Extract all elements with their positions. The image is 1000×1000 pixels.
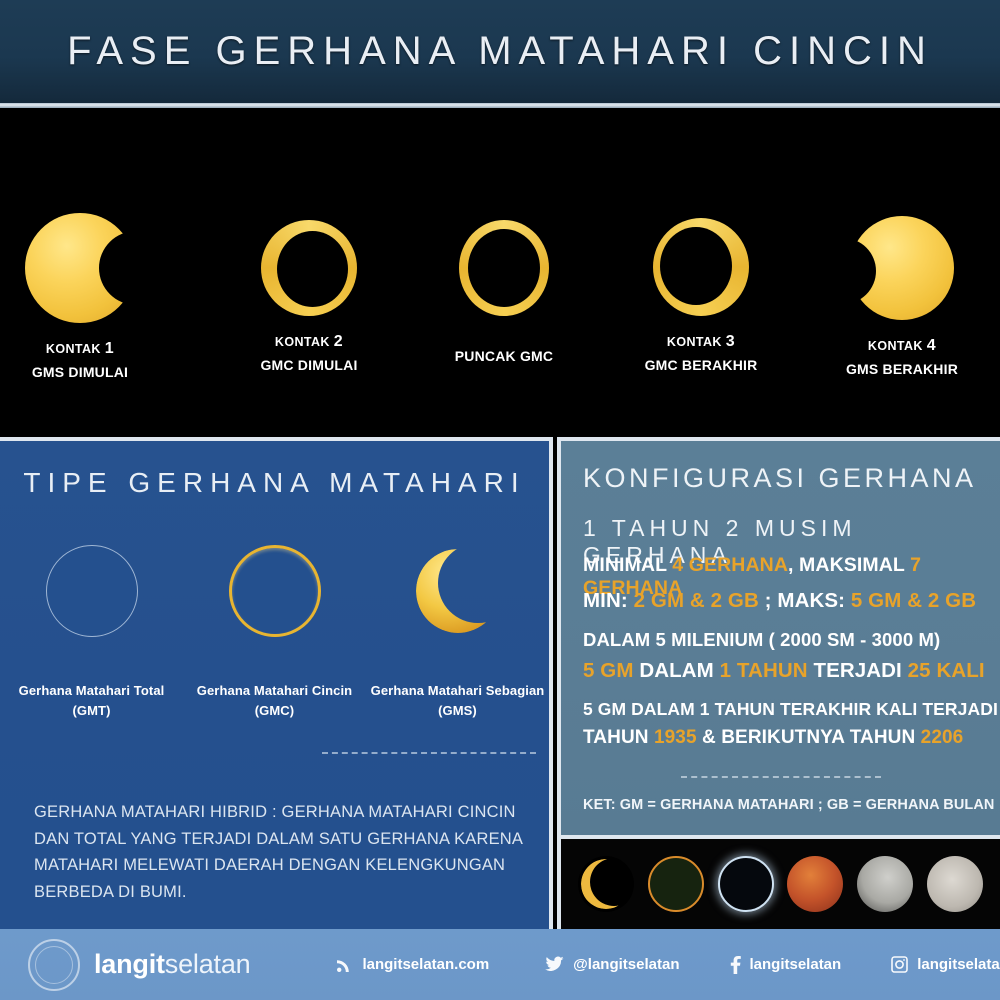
config-line-last-occurrence: 5 GM DALAM 1 TAHUN TERAKHIR KALI TERJADI bbox=[583, 699, 998, 720]
total-solar-corona-photo bbox=[718, 856, 774, 912]
phase-name-label: GMS DIMULAI bbox=[32, 362, 128, 382]
footer-link-label: langitselatan bbox=[750, 956, 842, 973]
footer-link-label: langitselatanmedia bbox=[917, 956, 1000, 973]
phase-name-label: PUNCAK GMC bbox=[455, 346, 553, 366]
type-item-gms: Gerhana Matahari Sebagian (GMS) bbox=[366, 545, 549, 720]
footer-link-facebook[interactable]: langitselatan bbox=[730, 956, 842, 974]
footer-link-instagram[interactable]: langitselatanmedia bbox=[891, 956, 1000, 973]
config-panel-divider bbox=[681, 776, 881, 778]
phase-name-label: GMC DIMULAI bbox=[260, 355, 357, 375]
eclipse-types-panel: TIPE GERHANA MATAHARI Gerhana Matahari T… bbox=[0, 437, 553, 929]
footer-bar: langitselatan langitselatan.com @langits… bbox=[0, 929, 1000, 1000]
page-title: FASE GERHANA MATAHARI CINCIN bbox=[67, 29, 933, 74]
instagram-icon bbox=[891, 956, 908, 973]
annular-ring-icon: .r2::after{inset:11px 9px 9px 16px;} bbox=[261, 220, 357, 316]
type-label: Gerhana Matahari Cincin (GMC) bbox=[197, 681, 352, 720]
phase-contact-label: KONTAK 2 bbox=[260, 330, 357, 353]
header-banner: FASE GERHANA MATAHARI CINCIN bbox=[0, 0, 1000, 103]
langitselatan-seal-logo bbox=[28, 939, 80, 991]
phase-item-kontak-4: KONTAK 4 GMS BERAKHIR bbox=[802, 108, 1000, 435]
annular-eclipse-photo bbox=[648, 856, 704, 912]
eclipse-configuration-panel: KONFIGURASI GERHANA 1 TAHUN 2 MUSIM GERH… bbox=[557, 437, 1000, 835]
footer-link-label: @langitselatan bbox=[573, 956, 679, 973]
phase-contact-label: KONTAK 3 bbox=[645, 330, 758, 353]
crescent-sun-photo bbox=[578, 856, 634, 912]
footer-link-twitter[interactable]: @langitselatan bbox=[545, 956, 679, 973]
annular-ring-icon bbox=[459, 220, 549, 316]
infographic-page: FASE GERHANA MATAHARI CINCIN KONTAK 1 GM… bbox=[0, 0, 1000, 1000]
twitter-icon bbox=[545, 956, 564, 973]
eclipse-phases-strip: KONTAK 1 GMS DIMULAI .r2::after{inset:11… bbox=[0, 108, 1000, 435]
config-line-years: TAHUN 1935 & BERIKUTNYA TAHUN 2206 bbox=[583, 727, 963, 749]
eclipse-photo-strip bbox=[557, 835, 1000, 929]
footer-link-website[interactable]: langitselatan.com bbox=[336, 956, 489, 973]
phase-contact-label: KONTAK 4 bbox=[846, 334, 958, 357]
types-list: Gerhana Matahari Total (GMT) Gerhana Mat… bbox=[0, 545, 549, 720]
full-moon-photo bbox=[927, 856, 983, 912]
type-label: Gerhana Matahari Sebagian (GMS) bbox=[371, 681, 545, 720]
config-line-millennium: DALAM 5 MILENIUM ( 2000 SM - 3000 M) bbox=[583, 629, 940, 651]
partial-lunar-photo bbox=[857, 856, 913, 912]
footer-link-label: langitselatan.com bbox=[362, 956, 489, 973]
brand-wordmark: langitselatan bbox=[94, 949, 250, 980]
phase-item-kontak-1: KONTAK 1 GMS DIMULAI bbox=[0, 108, 180, 435]
facebook-icon bbox=[730, 956, 741, 974]
config-line-gm-gb: MIN: 2 GM & 2 GB ; MAKS: 5 GM & 2 GB bbox=[583, 589, 976, 613]
config-line-5gm-frequency: 5 GM DALAM 1 TAHUN TERJADI 25 KALI bbox=[583, 659, 985, 683]
phase-item-puncak: PUNCAK GMC bbox=[404, 108, 604, 435]
type-label: Gerhana Matahari Total (GMT) bbox=[19, 681, 165, 720]
config-legend-text: KET: GM = GERHANA MATAHARI ; GB = GERHAN… bbox=[583, 797, 995, 813]
partial-sun-icon bbox=[850, 216, 954, 320]
type-item-gmt: Gerhana Matahari Total (GMT) bbox=[0, 545, 183, 720]
blood-moon-photo bbox=[787, 856, 843, 912]
types-panel-divider bbox=[322, 752, 536, 754]
rss-icon bbox=[336, 956, 353, 973]
phase-contact-label: KONTAK 1 bbox=[32, 337, 128, 360]
hybrid-eclipse-text: GERHANA MATAHARI HIBRID : GERHANA MATAHA… bbox=[34, 799, 534, 906]
config-panel-title: KONFIGURASI GERHANA bbox=[561, 441, 1000, 494]
annular-eclipse-icon bbox=[229, 545, 321, 637]
annular-ring-icon bbox=[653, 218, 749, 316]
total-eclipse-icon bbox=[46, 545, 138, 637]
phase-item-kontak-2: .r2::after{inset:11px 9px 9px 16px;} KON… bbox=[209, 108, 409, 435]
phase-name-label: GMS BERAKHIR bbox=[846, 359, 958, 379]
type-item-gmc: Gerhana Matahari Cincin (GMC) bbox=[183, 545, 366, 720]
phase-item-kontak-3: KONTAK 3 GMC BERAKHIR bbox=[601, 108, 801, 435]
phase-name-label: GMC BERAKHIR bbox=[645, 355, 758, 375]
types-panel-title: TIPE GERHANA MATAHARI bbox=[0, 441, 549, 499]
partial-eclipse-crescent-icon bbox=[412, 545, 504, 637]
partial-sun-icon bbox=[25, 213, 135, 323]
